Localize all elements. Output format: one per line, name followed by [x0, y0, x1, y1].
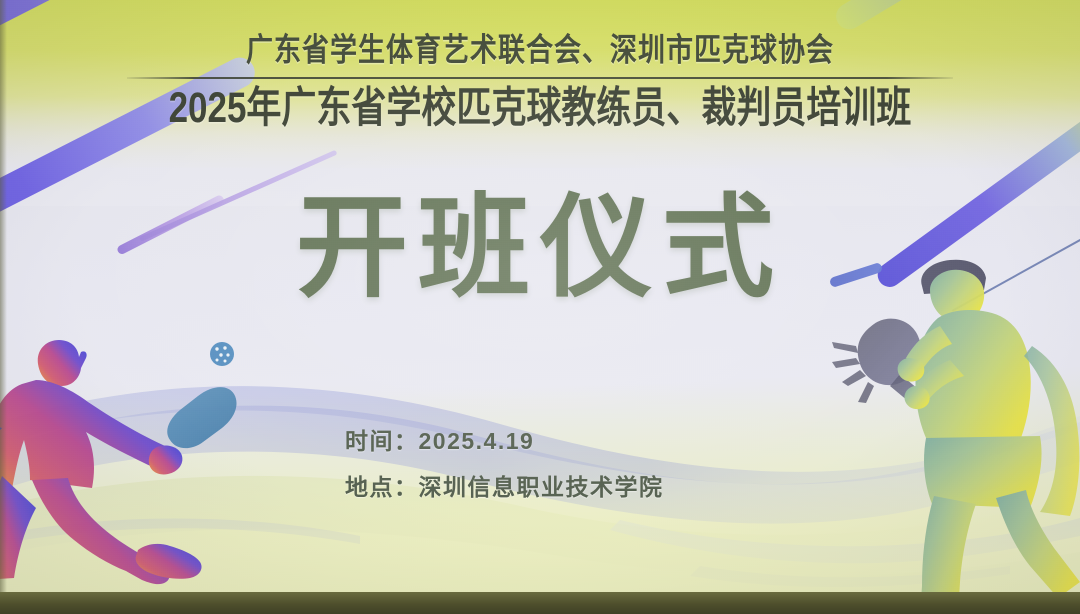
pickleball-player-left-silhouette: [0, 328, 252, 614]
pickleball-player-right-silhouette: [818, 246, 1080, 614]
pickleball-ball-icon: [209, 341, 235, 367]
projected-banner-screen: 广东省学生体育艺术联合会、深圳市匹克球协会 2025年广东省学校匹克球教练员、裁…: [0, 0, 1080, 614]
header-block: 广东省学生体育艺术联合会、深圳市匹克球协会 2025年广东省学校匹克球教练员、裁…: [0, 30, 1080, 125]
detail-row-location: 地点：深圳信息职业技术学院: [345, 464, 664, 510]
header-divider: [127, 77, 953, 79]
screen-edge-bottom: [0, 592, 1080, 614]
detail-row-time: 时间：2025.4.19: [345, 418, 664, 464]
event-details: 时间：2025.4.19 地点：深圳信息职业技术学院: [345, 418, 664, 510]
organizers-line: 广东省学生体育艺术联合会、深圳市匹克球协会: [0, 30, 1080, 70]
event-title-line: 2025年广东省学校匹克球教练员、裁判员培训班: [0, 83, 1080, 134]
screen-edge-left: [0, 0, 7, 614]
